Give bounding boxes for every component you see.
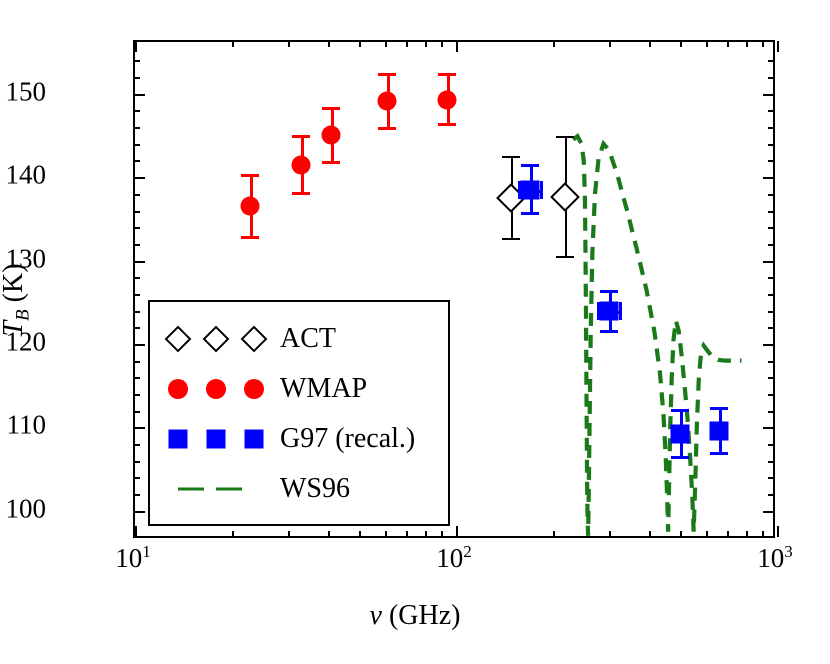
legend-marker-icon — [244, 379, 264, 399]
y-tick-label: 130 — [6, 245, 47, 272]
x-tick-major — [456, 526, 458, 537]
y-tick-minor — [134, 144, 140, 146]
y-tick-major — [134, 177, 145, 179]
y-tick-minor — [134, 377, 140, 379]
y-tick-label: 110 — [7, 412, 47, 439]
y-tick-minor — [134, 444, 140, 446]
y-tick-right — [763, 261, 774, 263]
y-tick-right — [768, 211, 774, 213]
y-tick-right — [768, 77, 774, 79]
x-tick-minor — [232, 531, 234, 537]
y-tick-right — [768, 444, 774, 446]
legend-marker-icon — [206, 379, 226, 399]
y-tick-right — [768, 461, 774, 463]
legend-label: WS96 — [280, 473, 350, 505]
x-tick-top — [425, 41, 427, 47]
x-tick-top — [456, 41, 458, 52]
x-tick-top — [762, 41, 764, 47]
legend-marker-group — [164, 414, 274, 464]
y-tick-minor — [134, 127, 140, 129]
y-tick-right — [763, 177, 774, 179]
y-tick-minor — [134, 77, 140, 79]
y-tick-major — [134, 511, 145, 513]
x-tick-minor — [288, 531, 290, 537]
x-tick-top — [706, 41, 708, 47]
legend-marker-icon — [241, 326, 268, 353]
x-tick-major — [777, 526, 779, 537]
x-tick-top — [406, 41, 408, 47]
y-tick-right — [763, 511, 774, 513]
x-tick-top — [777, 41, 779, 52]
x-tick-label: 103 — [757, 545, 793, 572]
x-tick-top — [288, 41, 290, 47]
y-tick-right — [768, 294, 774, 296]
legend-marker-icon — [169, 430, 188, 449]
legend-item-ws96[interactable]: WS96 — [150, 464, 448, 514]
legend-marker-group — [164, 464, 274, 514]
x-tick-label: 102 — [436, 545, 472, 572]
y-tick-label: 140 — [6, 162, 47, 189]
x-tick-minor — [328, 531, 330, 537]
x-tick-minor — [762, 531, 764, 537]
y-tick-minor — [134, 110, 140, 112]
y-tick-right — [768, 127, 774, 129]
g97-point — [520, 180, 539, 199]
y-tick-minor — [134, 461, 140, 463]
g97-point — [671, 425, 690, 444]
x-tick-minor — [727, 531, 729, 537]
y-tick-right — [768, 277, 774, 279]
x-tick-label: 101 — [115, 545, 151, 572]
x-tick-minor — [706, 531, 708, 537]
x-tick-top — [385, 41, 387, 47]
y-tick-right — [768, 144, 774, 146]
y-tick-minor — [134, 227, 140, 229]
x-tick-minor — [649, 531, 651, 537]
y-tick-minor — [134, 194, 140, 196]
y-tick-minor — [134, 277, 140, 279]
y-tick-right — [768, 311, 774, 313]
x-tick-minor — [359, 531, 361, 537]
ws96-path — [573, 136, 741, 536]
y-tick-minor — [134, 411, 140, 413]
y-tick-minor — [134, 244, 140, 246]
x-axis-unit: (GHz) — [382, 600, 461, 631]
x-tick-top — [135, 41, 137, 52]
x-tick-top — [649, 41, 651, 47]
x-tick-top — [746, 41, 748, 47]
g97-point — [710, 421, 729, 440]
legend-marker-icon — [168, 379, 188, 399]
y-tick-right — [763, 427, 774, 429]
y-tick-label: 100 — [6, 495, 47, 522]
legend-label: WMAP — [280, 373, 367, 405]
x-tick-top — [727, 41, 729, 47]
legend-item-wmap[interactable]: WMAP — [150, 364, 448, 414]
x-tick-minor — [441, 531, 443, 537]
y-tick-right — [768, 244, 774, 246]
y-tick-right — [768, 411, 774, 413]
y-tick-major — [134, 94, 145, 96]
x-axis-symbol: ν — [370, 600, 382, 631]
y-tick-right — [768, 377, 774, 379]
g97-point — [600, 302, 619, 321]
y-tick-minor — [134, 327, 140, 329]
legend-item-act[interactable]: ACT — [150, 314, 448, 364]
legend-marker-icon — [203, 326, 230, 353]
x-tick-minor — [609, 531, 611, 537]
y-tick-right — [768, 361, 774, 363]
y-tick-right — [768, 394, 774, 396]
figure-canvas: ACTWMAPG97 (recal.)WS96 ν (GHz) TB (K) 1… — [0, 0, 830, 664]
y-tick-minor — [134, 160, 140, 162]
legend-dash-icon — [178, 488, 204, 491]
x-tick-top — [441, 41, 443, 47]
y-tick-minor — [134, 60, 140, 62]
x-tick-top — [609, 41, 611, 47]
x-tick-top — [232, 41, 234, 47]
y-tick-right — [768, 327, 774, 329]
y-axis-subscript: B — [13, 309, 34, 321]
y-tick-major — [134, 261, 145, 263]
x-tick-top — [328, 41, 330, 47]
legend-marker-group — [164, 364, 274, 414]
y-tick-major — [134, 344, 145, 346]
legend-marker-group — [164, 314, 274, 364]
wmap-point — [292, 155, 311, 174]
wmap-point — [437, 90, 456, 109]
x-tick-top — [680, 41, 682, 47]
y-tick-right — [768, 110, 774, 112]
legend-label: ACT — [280, 323, 336, 355]
legend-dash-icon — [216, 488, 242, 491]
legend-marker-icon — [207, 430, 226, 449]
y-tick-right — [768, 160, 774, 162]
x-tick-minor — [680, 531, 682, 537]
x-tick-minor — [746, 531, 748, 537]
y-tick-right — [768, 60, 774, 62]
legend-item-g97-recal[interactable]: G97 (recal.) — [150, 414, 448, 464]
x-tick-minor — [553, 531, 555, 537]
y-tick-minor — [134, 394, 140, 396]
y-tick-right — [768, 494, 774, 496]
y-tick-minor — [134, 361, 140, 363]
y-tick-right — [768, 227, 774, 229]
y-tick-minor — [134, 494, 140, 496]
x-tick-minor — [385, 531, 387, 537]
x-tick-top — [359, 41, 361, 47]
legend-marker-icon — [245, 430, 264, 449]
y-tick-label: 150 — [6, 78, 47, 105]
x-tick-minor — [406, 531, 408, 537]
x-axis-title: ν (GHz) — [0, 600, 830, 632]
y-tick-right — [768, 194, 774, 196]
x-tick-minor — [425, 531, 427, 537]
y-tick-right — [768, 477, 774, 479]
y-tick-minor — [134, 211, 140, 213]
wmap-point — [321, 126, 340, 145]
legend-label: G97 (recal.) — [280, 423, 415, 455]
y-tick-minor — [134, 311, 140, 313]
y-tick-minor — [134, 294, 140, 296]
y-tick-right — [763, 344, 774, 346]
x-tick-top — [553, 41, 555, 47]
legend-marker-icon — [165, 326, 192, 353]
x-tick-major — [135, 526, 137, 537]
y-tick-right — [763, 94, 774, 96]
wmap-point — [240, 197, 259, 216]
y-tick-minor — [134, 477, 140, 479]
y-tick-label: 120 — [6, 328, 47, 355]
y-tick-major — [134, 427, 145, 429]
chart-legend: ACTWMAPG97 (recal.)WS96 — [148, 300, 450, 526]
wmap-point — [377, 92, 396, 111]
